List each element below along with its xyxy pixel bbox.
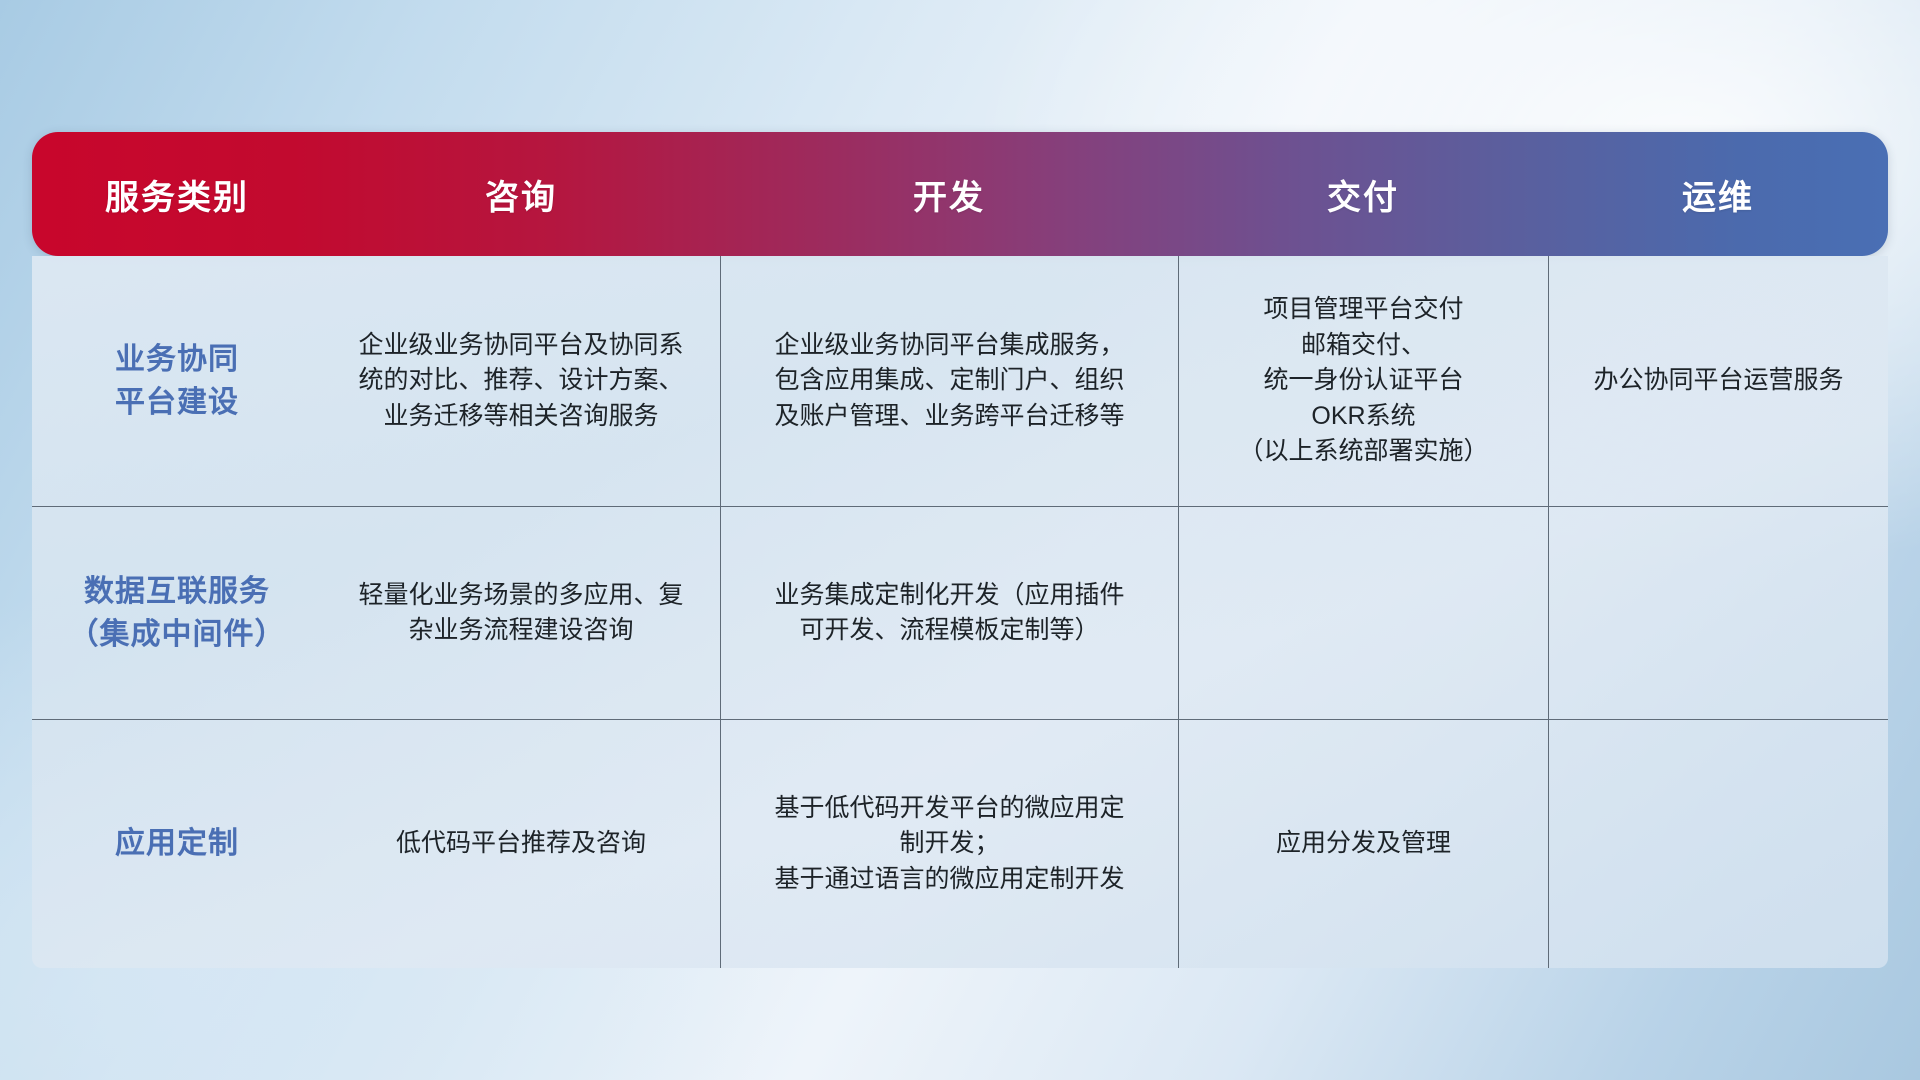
cell-development: 业务集成定制化开发（应用插件 可开发、流程模板定制等）	[720, 507, 1178, 719]
cell-category: 应用定制	[32, 720, 322, 968]
table-header-row: 服务类别 咨询 开发 交付 运维	[32, 132, 1888, 256]
cell-delivery	[1178, 507, 1548, 719]
table-body: 业务协同 平台建设 企业级业务协同平台及协同系 统的对比、推荐、设计方案、 业务…	[32, 256, 1888, 968]
cell-consulting: 企业级业务协同平台及协同系 统的对比、推荐、设计方案、 业务迁移等相关咨询服务	[322, 256, 720, 506]
cell-category: 业务协同 平台建设	[32, 256, 322, 506]
service-matrix-table: 服务类别 咨询 开发 交付 运维 业务协同 平台建设 企业级业务协同平台及协同系…	[32, 132, 1888, 968]
cell-operations	[1548, 507, 1888, 719]
table-row: 数据互联服务 （集成中间件） 轻量化业务场景的多应用、复 杂业务流程建设咨询 业…	[32, 506, 1888, 719]
column-header-operations: 运维	[1548, 132, 1888, 256]
slide-canvas: 服务类别 咨询 开发 交付 运维 业务协同 平台建设 企业级业务协同平台及协同系…	[0, 0, 1920, 1080]
cell-consulting: 低代码平台推荐及咨询	[322, 720, 720, 968]
column-header-category: 服务类别	[32, 132, 322, 256]
cell-delivery: 项目管理平台交付 邮箱交付、 统一身份认证平台 OKR系统 （以上系统部署实施）	[1178, 256, 1548, 506]
cell-development: 基于低代码开发平台的微应用定 制开发； 基于通过语言的微应用定制开发	[720, 720, 1178, 968]
cell-operations: 办公协同平台运营服务	[1548, 256, 1888, 506]
cell-operations	[1548, 720, 1888, 968]
cell-category: 数据互联服务 （集成中间件）	[32, 507, 322, 719]
column-header-delivery: 交付	[1178, 132, 1548, 256]
cell-development: 企业级业务协同平台集成服务， 包含应用集成、定制门户、组织 及账户管理、业务跨平…	[720, 256, 1178, 506]
column-header-consulting: 咨询	[322, 132, 720, 256]
column-header-development: 开发	[720, 132, 1178, 256]
cell-delivery: 应用分发及管理	[1178, 720, 1548, 968]
table-row: 应用定制 低代码平台推荐及咨询 基于低代码开发平台的微应用定 制开发； 基于通过…	[32, 719, 1888, 968]
table-row: 业务协同 平台建设 企业级业务协同平台及协同系 统的对比、推荐、设计方案、 业务…	[32, 256, 1888, 506]
cell-consulting: 轻量化业务场景的多应用、复 杂业务流程建设咨询	[322, 507, 720, 719]
